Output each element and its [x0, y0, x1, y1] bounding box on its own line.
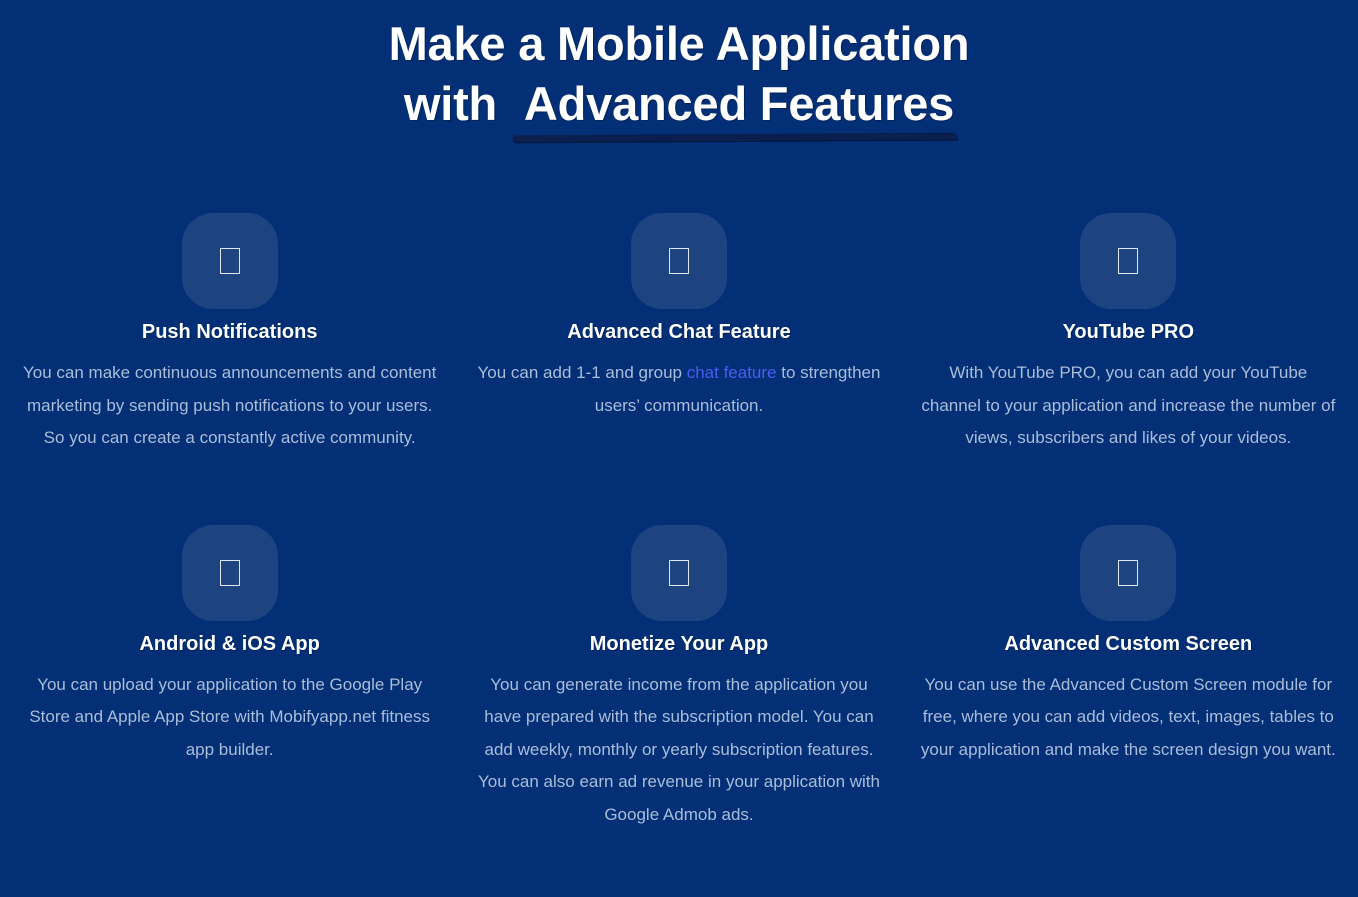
page-title: Make a Mobile Application with Advanced …: [0, 14, 1358, 134]
page-title-line-1: Make a Mobile Application: [0, 14, 1358, 74]
feature-title: Advanced Chat Feature: [471, 319, 886, 345]
feature-description: You can use the Advanced Custom Screen m…: [921, 669, 1336, 767]
feature-description: You can add 1-1 and group chat feature t…: [471, 357, 886, 422]
feature-title: YouTube PRO: [921, 319, 1336, 345]
feature-grid-row-2: Android & iOS App You can upload your ap…: [0, 525, 1358, 832]
bell-notification-icon: [182, 213, 278, 309]
feature-card-advanced-chat-feature: Advanced Chat Feature You can add 1-1 an…: [461, 213, 896, 455]
feature-description-text: You can upload your application to the G…: [29, 675, 430, 759]
feature-title: Monetize Your App: [471, 631, 886, 657]
feature-description: With YouTube PRO, you can add your YouTu…: [921, 357, 1336, 455]
feature-card-advanced-custom-screen: Advanced Custom Screen You can use the A…: [911, 525, 1346, 832]
chat-feature-link[interactable]: chat feature: [687, 363, 777, 382]
feature-title: Android & iOS App: [22, 631, 437, 657]
youtube-play-icon: [1080, 213, 1176, 309]
feature-grid-row-1: Push Notifications You can make continuo…: [0, 213, 1358, 455]
missing-glyph-icon: [669, 560, 689, 586]
feature-card-youtube-pro: YouTube PRO With YouTube PRO, you can ad…: [911, 213, 1346, 455]
feature-description: You can upload your application to the G…: [22, 669, 437, 767]
feature-description-text: You can use the Advanced Custom Screen m…: [921, 675, 1336, 759]
feature-title: Advanced Custom Screen: [921, 631, 1336, 657]
missing-glyph-icon: [220, 248, 240, 274]
page-title-accent: Advanced Features: [510, 74, 954, 134]
feature-description-text: You can add 1-1 and group: [478, 363, 687, 382]
feature-title: Push Notifications: [22, 319, 437, 345]
page-root: Make a Mobile Application with Advanced …: [0, 0, 1358, 897]
missing-glyph-icon: [220, 560, 240, 586]
hero-section: Make a Mobile Application with Advanced …: [0, 0, 1358, 134]
missing-glyph-icon: [1118, 248, 1138, 274]
feature-card-android-ios-app: Android & iOS App You can upload your ap…: [12, 525, 447, 832]
custom-screen-layout-icon: [1080, 525, 1176, 621]
brush-underline-icon: [513, 133, 958, 143]
money-coin-icon: [631, 525, 727, 621]
missing-glyph-icon: [1118, 560, 1138, 586]
feature-description: You can generate income from the applica…: [471, 669, 886, 832]
feature-description-text: With YouTube PRO, you can add your YouTu…: [921, 363, 1335, 447]
feature-card-monetize-your-app: Monetize Your App You can generate incom…: [461, 525, 896, 832]
page-title-accent-text: Advanced Features: [524, 77, 954, 130]
feature-card-push-notifications: Push Notifications You can make continuo…: [12, 213, 447, 455]
missing-glyph-icon: [669, 248, 689, 274]
page-title-prefix: with: [404, 77, 510, 130]
feature-description-text: You can make continuous announcements an…: [23, 363, 436, 447]
feature-description-text: You can generate income from the applica…: [478, 675, 880, 824]
page-title-line-2: with Advanced Features: [404, 74, 954, 134]
feature-description: You can make continuous announcements an…: [22, 357, 437, 455]
chat-bubble-icon: [631, 213, 727, 309]
mobile-devices-icon: [182, 525, 278, 621]
